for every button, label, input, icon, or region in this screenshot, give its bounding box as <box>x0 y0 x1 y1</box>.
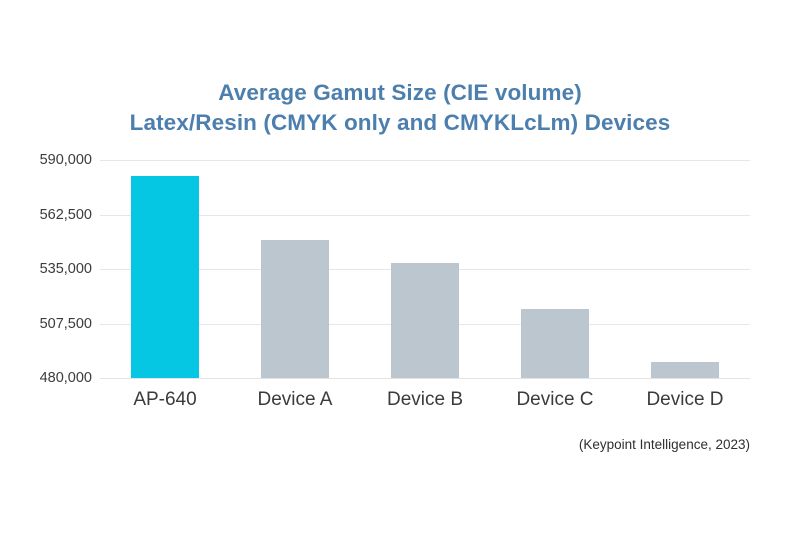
x-axis-tick-label: Device D <box>620 388 750 412</box>
bar-device-a[interactable] <box>261 240 329 378</box>
x-axis-tick-label: Device B <box>360 388 490 412</box>
y-axis-tick-label: 535,000 <box>14 262 92 277</box>
chart-title: Average Gamut Size (CIE volume) Latex/Re… <box>0 78 800 138</box>
x-axis-tick-label: AP-640 <box>100 388 230 412</box>
y-axis-tick-label: 590,000 <box>14 153 92 168</box>
bar-device-d[interactable] <box>651 362 719 378</box>
y-axis-tick-label: 562,500 <box>14 208 92 223</box>
x-axis-baseline <box>100 378 750 379</box>
chart-title-line-1: Average Gamut Size (CIE volume) <box>0 78 800 108</box>
bar-series <box>100 155 750 379</box>
x-axis: AP-640Device ADevice BDevice CDevice D <box>100 388 750 414</box>
x-axis-tick-label: Device A <box>230 388 360 412</box>
bar-device-b[interactable] <box>391 263 459 378</box>
bar-device-c[interactable] <box>521 309 589 378</box>
x-axis-tick-label: Device C <box>490 388 620 412</box>
chart-title-line-2: Latex/Resin (CMYK only and CMYKLcLm) Dev… <box>0 108 800 138</box>
source-note: (Keypoint Intelligence, 2023) <box>0 436 750 454</box>
bar-ap-640[interactable] <box>131 176 199 378</box>
chart-container: Average Gamut Size (CIE volume) Latex/Re… <box>0 0 800 533</box>
y-axis-tick-label: 507,500 <box>14 317 92 332</box>
y-axis-tick-label: 480,000 <box>14 371 92 386</box>
y-axis: 590,000562,500535,000507,500480,000 <box>10 160 92 378</box>
